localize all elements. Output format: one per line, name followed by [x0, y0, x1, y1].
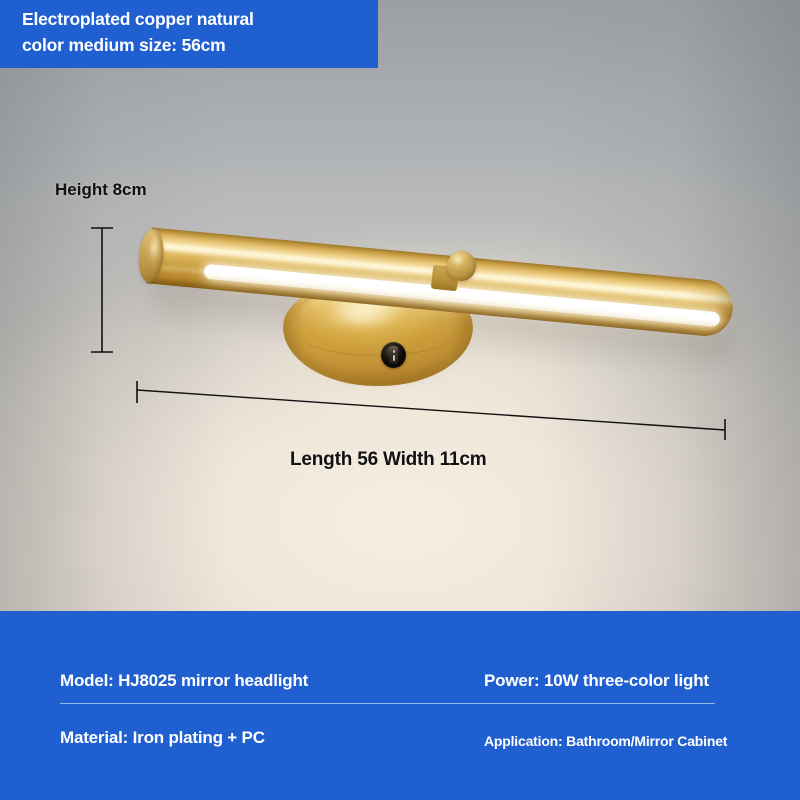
height-dimension-line [88, 222, 122, 358]
spec-material: Material: Iron plating + PC [60, 728, 265, 748]
length-dimension-line [128, 378, 734, 440]
header-title-line2: color medium size: 56cm [22, 32, 364, 58]
height-dimension-label: Height 8cm [55, 180, 147, 200]
header-title-line1: Electroplated copper natural [22, 6, 364, 32]
header-banner: Electroplated copper natural color mediu… [0, 0, 378, 68]
spec-power: Power: 10W three-color light [484, 671, 709, 691]
length-dimension-label: Length 56 Width 11cm [290, 449, 486, 471]
spec-application: Application: Bathroom/Mirror Cabinet [484, 733, 727, 749]
spec-divider [60, 703, 715, 704]
spec-model: Model: HJ8025 mirror headlight [60, 671, 308, 691]
spec-panel: Model: HJ8025 mirror headlight Power: 10… [0, 611, 800, 800]
product-image-stage: Height 8cm Length 56 Width 11cm Electrop… [0, 0, 800, 800]
